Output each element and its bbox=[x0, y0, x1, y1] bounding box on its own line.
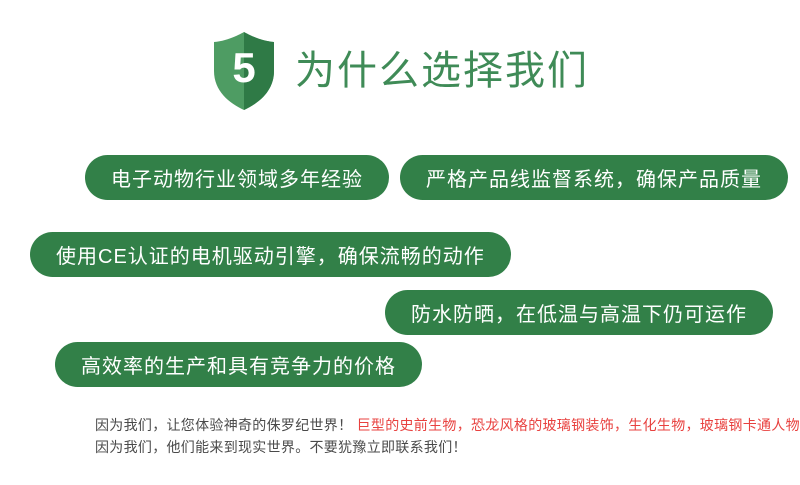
page-title: 为什么选择我们 bbox=[295, 51, 589, 91]
feature-pill-label: 严格产品线监督系统，确保产品质量 bbox=[426, 163, 762, 192]
footer-line-1-highlight: 巨型的史前生物，恐龙风格的玻璃钢装饰，生化生物，玻璃钢卡通人物 bbox=[357, 417, 800, 433]
footer-line-1-plain: 因为我们，让您体验神奇的侏罗纪世界！ bbox=[95, 417, 357, 433]
feature-pill-label: 电子动物行业领域多年经验 bbox=[111, 163, 363, 192]
feature-pill: 严格产品线监督系统，确保产品质量 bbox=[400, 155, 788, 200]
feature-pill-label: 防水防晒，在低温与高温下仍可运作 bbox=[411, 298, 747, 327]
footer-line-2: 因为我们，他们能来到现实世界。不要犹豫立即联系我们！ bbox=[95, 436, 755, 458]
page-header: 5 为什么选择我们 bbox=[0, 26, 800, 116]
feature-pill-label: 使用CE认证的电机驱动引擎，确保流畅的动作 bbox=[56, 240, 485, 269]
feature-pill: 高效率的生产和具有竞争力的价格 bbox=[55, 342, 422, 387]
footer-paragraph: 因为我们，让您体验神奇的侏罗纪世界！ 巨型的史前生物，恐龙风格的玻璃钢装饰，生化… bbox=[95, 414, 755, 458]
footer-line-1: 因为我们，让您体验神奇的侏罗纪世界！ 巨型的史前生物，恐龙风格的玻璃钢装饰，生化… bbox=[95, 414, 755, 436]
feature-pill: 防水防晒，在低温与高温下仍可运作 bbox=[385, 290, 773, 335]
shield-badge: 5 bbox=[211, 31, 277, 111]
feature-pill: 电子动物行业领域多年经验 bbox=[85, 155, 389, 200]
badge-number: 5 bbox=[211, 31, 277, 111]
feature-pill-label: 高效率的生产和具有竞争力的价格 bbox=[81, 350, 396, 379]
feature-pill: 使用CE认证的电机驱动引擎，确保流畅的动作 bbox=[30, 232, 511, 277]
